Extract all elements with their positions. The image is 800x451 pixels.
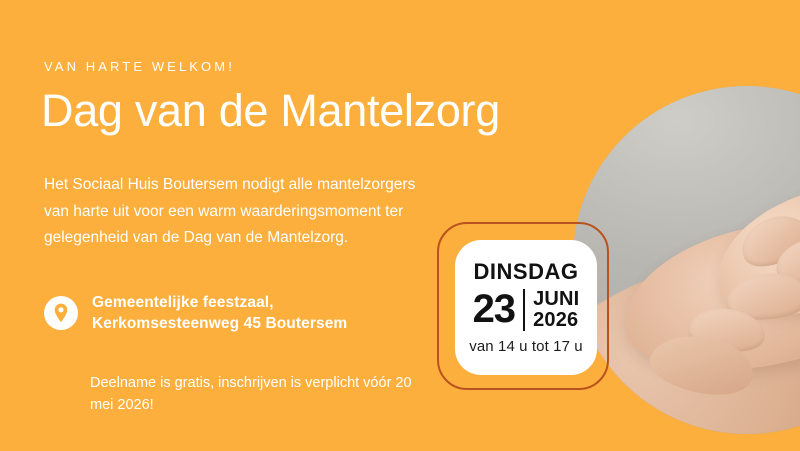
- poster-canvas: VAN HARTE WELKOM! Dag van de Mantelzorg …: [0, 0, 800, 451]
- date-row: 23 JUNI 2026: [473, 289, 580, 331]
- intro-paragraph: Het Sociaal Huis Boutersem nodigt alle m…: [44, 172, 416, 252]
- venue-line-2: Kerkomsesteenweg 45 Boutersem: [92, 313, 347, 334]
- venue-address: Gemeentelijke feestzaal, Kerkomsesteenwe…: [92, 292, 347, 335]
- registration-note: Deelname is gratis, inschrijven is verpl…: [90, 373, 430, 417]
- map-pin-icon: [44, 296, 78, 330]
- date-weekday: DINSDAG: [474, 261, 579, 283]
- date-card: DINSDAG 23 JUNI 2026 van 14 u tot 17 u: [455, 240, 597, 375]
- page-title: Dag van de Mantelzorg: [41, 86, 500, 136]
- date-month-year: JUNI 2026: [533, 289, 579, 330]
- venue-line-1: Gemeentelijke feestzaal,: [92, 292, 347, 313]
- venue-block: Gemeentelijke feestzaal, Kerkomsesteenwe…: [44, 292, 347, 335]
- date-time: van 14 u tot 17 u: [469, 338, 582, 355]
- eyebrow-text: VAN HARTE WELKOM!: [44, 59, 235, 74]
- date-year: 2026: [533, 310, 579, 330]
- date-day: 23: [473, 291, 516, 328]
- date-month: JUNI: [533, 289, 579, 309]
- date-separator: [523, 289, 525, 331]
